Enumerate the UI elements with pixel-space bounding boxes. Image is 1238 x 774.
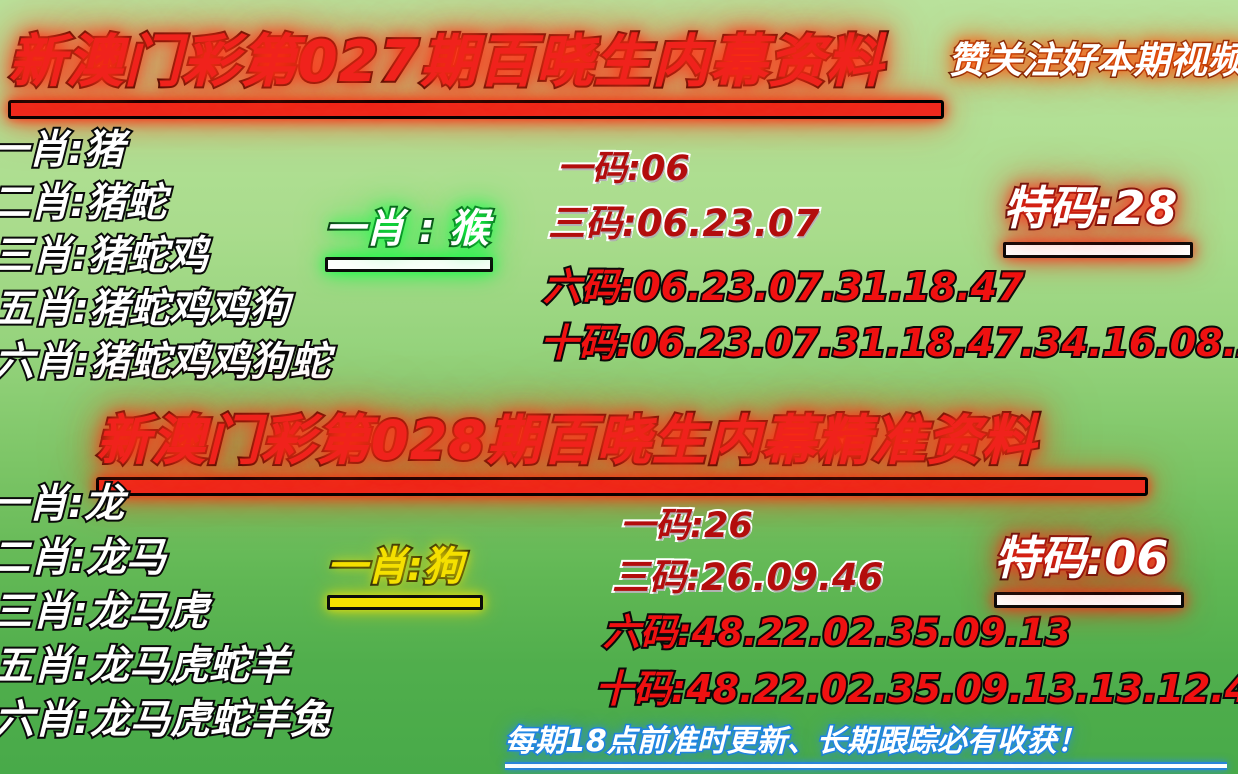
section-1-featured-pick-text: 一肖 : 猴 (325, 196, 493, 254)
section-2-special-number-underline (994, 592, 1184, 608)
footer-notice: 每期18点前准时更新、长期跟踪必有收获！ (505, 716, 1227, 770)
section-1-featured-pick: 一肖 : 猴 (325, 196, 493, 272)
section-1-banner-text: 新澳门彩第027期百晓生内幕资料 (8, 16, 944, 98)
zodiac-row: 五肖:猪蛇鸡鸡狗 (0, 289, 330, 329)
lottery-poster: 新澳门彩第027期百晓生内幕资料 赞关注好本期视频 一肖:猪 二肖:猪蛇 三肖:… (0, 0, 1238, 774)
section-1-featured-pick-underline (325, 257, 493, 272)
zodiac-row: 六肖:猪蛇鸡鸡狗蛇 (0, 342, 330, 382)
section-2-special-number-text: 特码:06 (994, 522, 1184, 588)
footer-underline (505, 762, 1227, 770)
section-1-special-number: 特码:28 (1003, 172, 1193, 258)
zodiac-row: 一肖:猪 (0, 130, 330, 170)
section-1-code-six: 六码:06.23.07.31.18.47 (543, 256, 1024, 311)
section-2-code-one: 一码:26 (620, 497, 753, 548)
zodiac-row: 一肖:龙 (0, 484, 330, 524)
section-1-code-three: 三码:06.23.07 (548, 193, 819, 247)
section-1-code-one: 一码:06 (557, 140, 690, 191)
section-2-featured-pick: 一肖:狗 (327, 534, 483, 610)
section-2-code-three: 三码:26.09.46 (612, 547, 883, 601)
zodiac-row: 六肖:龙马虎蛇羊兔 (0, 700, 330, 740)
zodiac-row: 三肖:龙马虎 (0, 592, 330, 632)
zodiac-row: 二肖:猪蛇 (0, 183, 330, 223)
section-2-code-six: 六码:48.22.02.35.09.13 (603, 602, 1071, 656)
section-1-special-number-text: 特码:28 (1003, 172, 1193, 238)
section-2-featured-pick-text: 一肖:狗 (327, 534, 483, 592)
zodiac-row: 二肖:龙马 (0, 538, 330, 578)
section-2-featured-pick-underline (327, 595, 483, 610)
section-1-special-number-underline (1003, 242, 1193, 258)
section-2-special-number: 特码:06 (994, 522, 1184, 608)
zodiac-row: 三肖:猪蛇鸡 (0, 236, 330, 276)
footer-notice-text: 每期18点前准时更新、长期跟踪必有收获！ (505, 716, 1227, 760)
section-1-banner-title: 新澳门彩第027期百晓生内幕资料 (8, 16, 944, 119)
section-2-code-ten: 十码:48.22.02.35.09.13.13.12.46.26.03 (595, 658, 1238, 713)
section-1-zodiac-list: 一肖:猪 二肖:猪蛇 三肖:猪蛇鸡 五肖:猪蛇鸡鸡狗 六肖:猪蛇鸡鸡狗蛇 (0, 130, 330, 382)
section-2-banner-text: 新澳门彩第028期百晓生内幕精准资料 (96, 396, 1148, 475)
section-2-zodiac-list: 一肖:龙 二肖:龙马 三肖:龙马虎 五肖:龙马虎蛇羊 六肖:龙马虎蛇羊兔 (0, 484, 330, 740)
section-2-banner-title: 新澳门彩第028期百晓生内幕精准资料 (96, 396, 1148, 496)
zodiac-row: 五肖:龙马虎蛇羊 (0, 646, 330, 686)
section-1-code-ten: 十码:06.23.07.31.18.47.34.16.08.21 (540, 312, 1238, 367)
promo-follow-text: 赞关注好本期视频 (948, 30, 1238, 84)
section-1-banner-underline (8, 100, 944, 119)
